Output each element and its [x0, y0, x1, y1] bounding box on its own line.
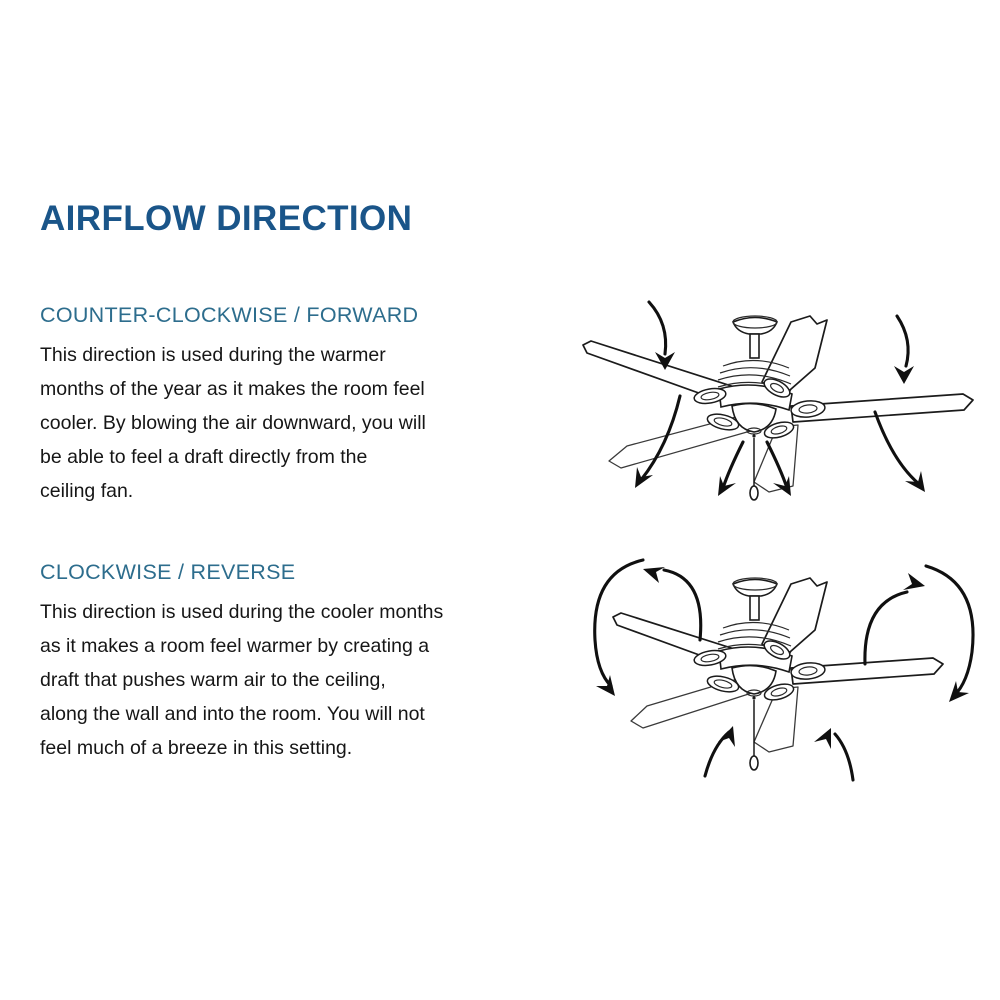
section-body-clockwise-reverse: This direction is used during the cooler…: [40, 595, 570, 765]
ceiling-fan-upward-circulating-airflow-illustration: [565, 548, 990, 793]
airflow-arrow-up-over-right: [865, 592, 907, 664]
motor-cap-dot: [752, 696, 755, 699]
section-heading-counter-clockwise-forward: COUNTER-CLOCKWISE / FORWARD: [40, 303, 570, 329]
arrow-head-left: [643, 567, 665, 583]
section-heading-clockwise-reverse: CLOCKWISE / REVERSE: [40, 560, 570, 586]
section-clockwise-reverse: CLOCKWISE / REVERSE This direction is us…: [40, 560, 570, 765]
body-line: along the wall and into the room. You wi…: [40, 697, 570, 731]
body-line: This direction is used during the warmer: [40, 338, 570, 372]
infographic-page: AIRFLOW DIRECTION COUNTER-CLOCKWISE / FO…: [0, 0, 1000, 1000]
section-counter-clockwise-forward: COUNTER-CLOCKWISE / FORWARD This directi…: [40, 303, 570, 508]
body-line: This direction is used during the cooler…: [40, 595, 570, 629]
downrod: [750, 596, 759, 620]
ceiling-fan-downward-airflow-illustration: [565, 296, 990, 521]
body-line: feel much of a breeze in this setting.: [40, 731, 570, 765]
body-line: draft that pushes warm air to the ceilin…: [40, 663, 570, 697]
airflow-arrow-down-topright: [897, 316, 908, 366]
pull-chain-knob: [750, 756, 758, 770]
page-title: AIRFLOW DIRECTION: [40, 201, 412, 238]
body-line: be able to feel a draft directly from th…: [40, 440, 570, 474]
body-line: months of the year as it makes the room …: [40, 372, 570, 406]
arrow-head-down-left: [635, 467, 653, 488]
motor-cap-dot: [752, 434, 755, 437]
arrow-head-right: [903, 573, 925, 590]
section-body-counter-clockwise-forward: This direction is used during the warmer…: [40, 338, 570, 508]
airflow-arrow-down-right: [875, 412, 919, 484]
airflow-arrow-up-center-right: [835, 734, 853, 780]
arrow-head-down: [894, 366, 914, 384]
downrod: [750, 334, 759, 358]
airflow-arrow-down-center-left: [723, 442, 743, 488]
airflow-arrow-down-topleft: [649, 302, 666, 354]
pull-chain-knob: [750, 486, 758, 500]
pull-chain: [750, 438, 758, 500]
airflow-arrow-down-outer-right: [926, 566, 973, 696]
arrow-head-up-center-right: [814, 728, 831, 749]
body-line: as it makes a room feel warmer by creati…: [40, 629, 570, 663]
body-line: cooler. By blowing the air downward, you…: [40, 406, 570, 440]
body-line: ceiling fan.: [40, 474, 570, 508]
